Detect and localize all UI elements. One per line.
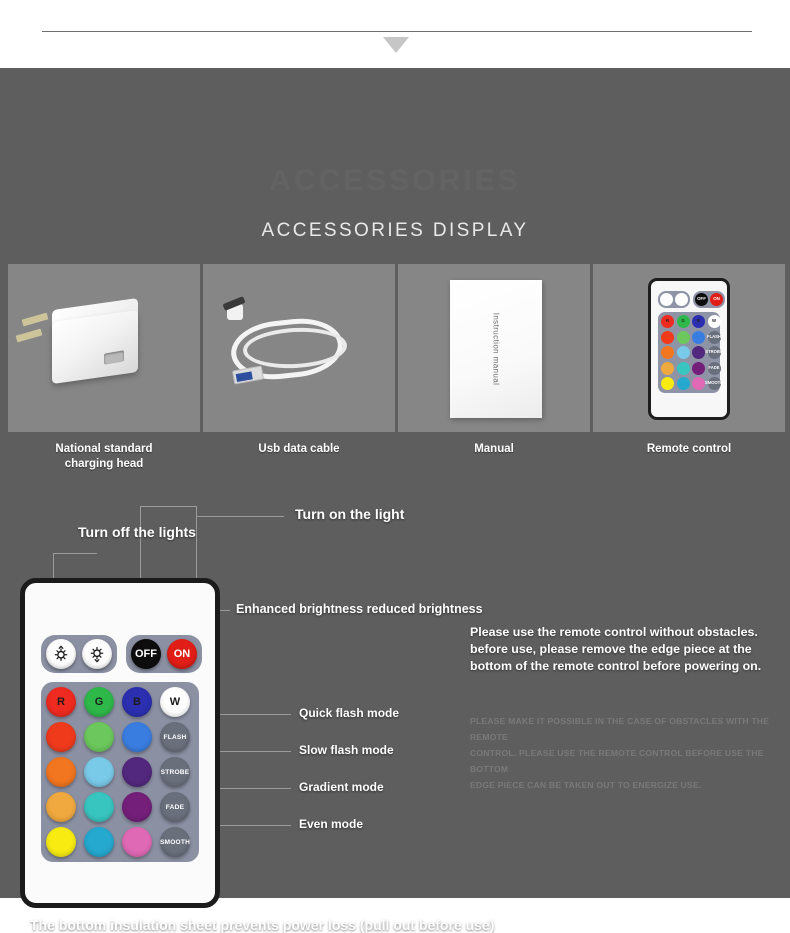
mini-cell-r1c2 <box>692 331 705 344</box>
color-button-r2c1[interactable] <box>84 757 114 787</box>
color-button-r2c0[interactable] <box>46 757 76 787</box>
label-turn-on: Turn on the light <box>295 506 404 522</box>
mini-cell-r0c0: R <box>661 315 674 328</box>
accessory-caption: Manual <box>398 442 590 457</box>
mini-cell-r0c2: B <box>692 315 705 328</box>
fade-mode-button[interactable]: FADE <box>160 792 190 822</box>
label-gradient-mode: Gradient mode <box>299 780 384 794</box>
leader-line-turn-on-tail <box>196 516 284 517</box>
color-button-r2c2[interactable] <box>122 757 152 787</box>
leader-line-turn-on-horizontal <box>140 506 197 507</box>
notice-line-3: bottom of the remote control before powe… <box>470 658 780 675</box>
watermark-text: ACCESSORIES <box>0 164 790 198</box>
section-title: ACCESSORIES DISPLAY <box>0 220 790 242</box>
color-button-r1c0[interactable] <box>46 722 76 752</box>
mini-cell-r4c0 <box>661 377 674 390</box>
manual-sheet-text: Instruction manual <box>492 313 501 386</box>
w-color-button[interactable]: W <box>160 687 190 717</box>
chevron-down-triangle-icon <box>383 37 409 53</box>
caption-line-1: Manual <box>398 442 590 457</box>
color-button-r1c2[interactable] <box>122 722 152 752</box>
faint-line-1: PLEASE MAKE IT POSSIBLE IN THE CASE OF O… <box>470 713 782 745</box>
faint-line-3: EDGE PIECE CAN BE TAKEN OUT TO ENERGIZE … <box>470 777 782 793</box>
accessory-card-remote[interactable]: OFFONRGBWFLASHSTROBEFADESMOOTH Remote co… <box>593 264 785 472</box>
leader-line-even <box>213 825 291 826</box>
mini-power-off-button: OFF <box>695 293 708 306</box>
color-button-r3c2[interactable] <box>122 792 152 822</box>
mini-brightness-up-button <box>660 293 673 306</box>
mini-cell-r3c3: FADE <box>708 362 721 375</box>
usb-cable-icon <box>203 264 395 432</box>
color-button-r4c0[interactable] <box>46 827 76 857</box>
caption-line-2: charging head <box>8 457 200 472</box>
color-button-r4c2[interactable] <box>122 827 152 857</box>
brightness-down-icon <box>88 645 106 663</box>
mini-cell-r4c2 <box>692 377 705 390</box>
manual-booklet-icon: Instruction manual <box>398 264 590 432</box>
accessory-card-charger[interactable]: National standard charging head <box>8 264 200 472</box>
leader-line-gradient <box>213 788 291 789</box>
mini-cell-r3c0 <box>661 362 674 375</box>
top-divider-strip <box>0 0 790 68</box>
caption-line-1: Remote control <box>593 442 785 457</box>
caption-line-1: Usb data cable <box>203 442 395 457</box>
leader-line-quick-flash <box>213 714 291 715</box>
color-button-r4c1[interactable] <box>84 827 114 857</box>
power-adapter-icon <box>8 264 200 432</box>
mini-cell-r4c1 <box>677 377 690 390</box>
remote-color-mode-grid: RGBWFLASHSTROBEFADESMOOTH <box>41 682 199 862</box>
remote-control-mini: OFFONRGBWFLASHSTROBEFADESMOOTH <box>648 278 730 420</box>
remote-diagram-area: Turn off the lights Turn on the light En… <box>0 488 790 898</box>
leader-line-brightness-join <box>53 553 97 554</box>
b-color-button[interactable]: B <box>122 687 152 717</box>
accessory-card-list: National standard charging head Usb data… <box>8 264 782 472</box>
mini-cell-r1c1 <box>677 331 690 344</box>
caption-line-1: National standard <box>8 442 200 457</box>
remote-control-large[interactable]: OFF ON RGBWFLASHSTROBEFADESMOOTH <box>20 578 220 908</box>
remote-control-icon: OFFONRGBWFLASHSTROBEFADESMOOTH <box>593 264 785 432</box>
mini-cell-r2c3: STROBE <box>708 346 721 359</box>
strobe-mode-button[interactable]: STROBE <box>160 757 190 787</box>
mini-cell-r3c2 <box>692 362 705 375</box>
color-button-r1c1[interactable] <box>84 722 114 752</box>
horizontal-rule <box>42 31 752 32</box>
label-quick-flash-mode: Quick flash mode <box>299 706 399 720</box>
leader-line-slow-flash <box>213 751 291 752</box>
mini-cell-r1c3: FLASH <box>708 331 721 344</box>
color-button-r3c0[interactable] <box>46 792 76 822</box>
accessories-panel: ACCESSORIES ACCESSORIES DISPLAY National… <box>0 68 790 898</box>
remote-top-button-row: OFF ON <box>41 635 199 673</box>
notice-line-2: before use, please remove the edge piece… <box>470 641 780 658</box>
brightness-up-button[interactable] <box>46 639 76 669</box>
remote-usage-notice-faint: PLEASE MAKE IT POSSIBLE IN THE CASE OF O… <box>470 713 782 793</box>
accessory-caption: Remote control <box>593 442 785 457</box>
power-button-group: OFF ON <box>126 635 202 673</box>
label-brightness: Enhanced brightness reduced brightness <box>236 602 483 616</box>
faint-line-2: CONTROL. PLEASE USE THE REMOTE CONTROL B… <box>470 745 782 777</box>
r-color-button[interactable]: R <box>46 687 76 717</box>
brightness-button-group <box>41 635 117 673</box>
mini-cell-r3c1 <box>677 362 690 375</box>
bottom-caption: The bottom insulation sheet prevents pow… <box>30 917 494 933</box>
mini-brightness-down-button <box>675 293 688 306</box>
accessory-caption: National standard charging head <box>8 442 200 472</box>
label-turn-off: Turn off the lights <box>78 524 196 540</box>
mini-cell-r2c2 <box>692 346 705 359</box>
accessory-caption: Usb data cable <box>203 442 395 457</box>
accessory-card-manual[interactable]: Instruction manual Manual <box>398 264 590 472</box>
remote-usage-notice: Please use the remote control without ob… <box>470 624 780 675</box>
flash-mode-button[interactable]: FLASH <box>160 722 190 752</box>
power-on-button[interactable]: ON <box>167 639 197 669</box>
brightness-up-icon <box>52 645 70 663</box>
mini-cell-r1c0 <box>661 331 674 344</box>
mini-cell-r4c3: SMOOTH <box>708 377 721 390</box>
label-even-mode: Even mode <box>299 817 363 831</box>
accessory-card-usb-cable[interactable]: Usb data cable <box>203 264 395 472</box>
color-button-r3c1[interactable] <box>84 792 114 822</box>
mini-cell-r0c1: G <box>677 315 690 328</box>
brightness-down-button[interactable] <box>82 639 112 669</box>
smooth-mode-button[interactable]: SMOOTH <box>160 827 190 857</box>
mini-cell-r2c1 <box>677 346 690 359</box>
mini-power-on-button: ON <box>710 293 723 306</box>
mini-cell-r0c3: W <box>708 315 721 328</box>
notice-line-1: Please use the remote control without ob… <box>470 624 780 641</box>
label-slow-flash-mode: Slow flash mode <box>299 743 394 757</box>
power-off-button[interactable]: OFF <box>131 639 161 669</box>
mini-cell-r2c0 <box>661 346 674 359</box>
g-color-button[interactable]: G <box>84 687 114 717</box>
